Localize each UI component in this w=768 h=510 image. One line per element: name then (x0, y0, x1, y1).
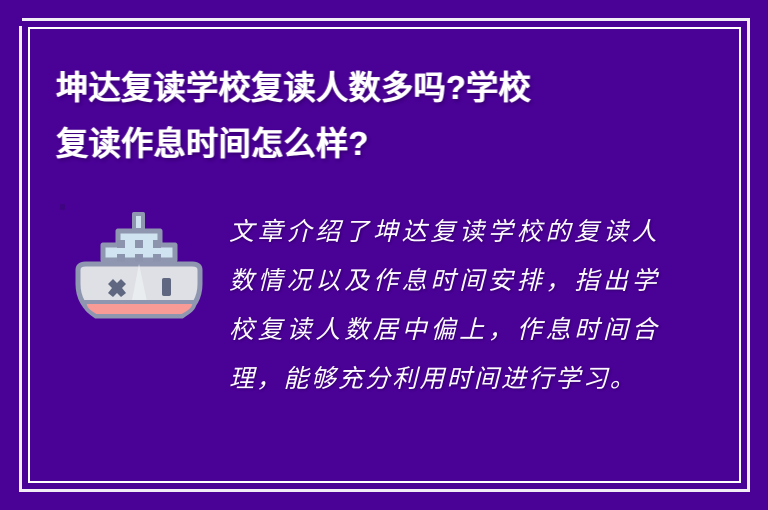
poster-canvas: 坤达复读学校复读人数多吗?学校 复读作息时间怎么样? (0, 0, 768, 510)
body-paragraph: 文章介绍了坤达复读学校的复读人数情况以及作息时间安排，指出学校复读人数居中偏上，… (229, 208, 659, 404)
page-title: 坤达复读学校复读人数多吗?学校 复读作息时间怎么样? (56, 60, 696, 172)
title-line-1: 坤达复读学校复读人数多吗?学校 (56, 60, 677, 116)
frame-corner-mask (0, 0, 22, 26)
body-paragraph-block: 文章介绍了坤达复读学校的复读人数情况以及作息时间安排，指出学校复读人数居中偏上，… (229, 208, 659, 404)
background-speck (60, 204, 65, 210)
ship-icon (70, 212, 210, 342)
title-line-2: 复读作息时间怎么样? (56, 116, 677, 172)
